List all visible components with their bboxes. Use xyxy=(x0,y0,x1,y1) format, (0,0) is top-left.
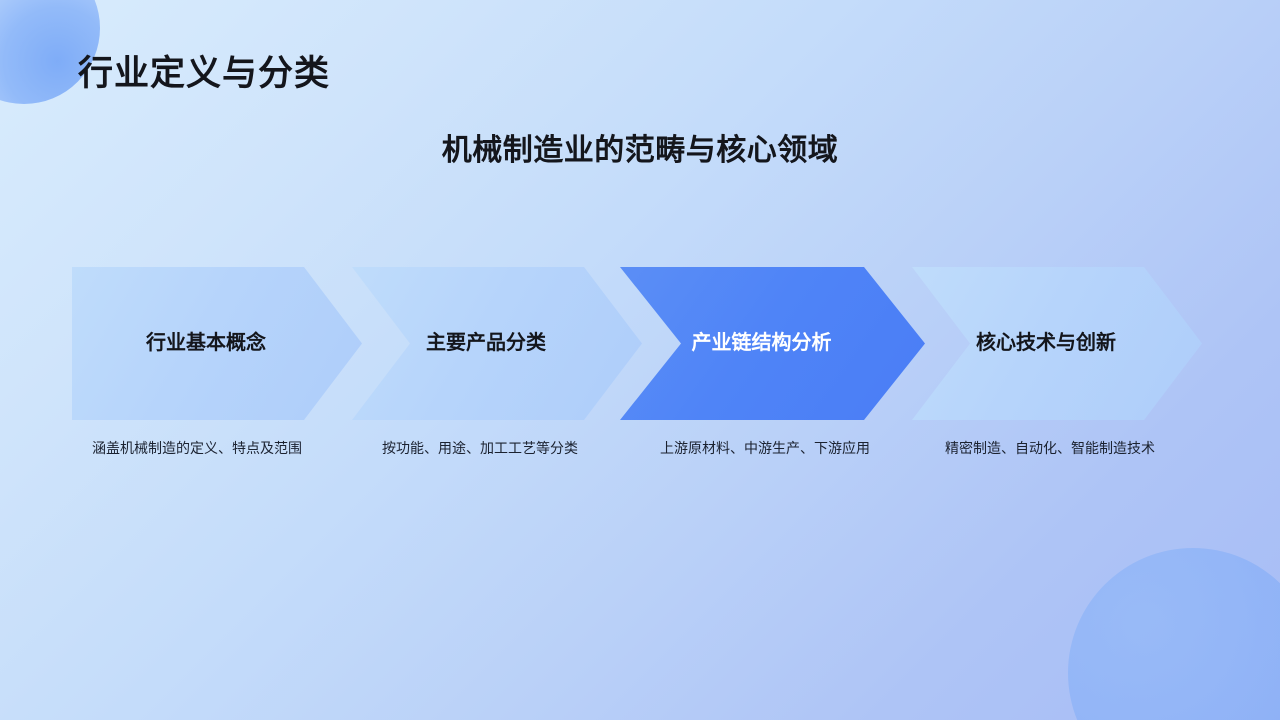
flow-step-2-label: 主要产品分类 xyxy=(392,267,580,420)
flow-step-3[interactable]: 产业链结构分析 xyxy=(620,267,925,420)
flow-step-3-label: 产业链结构分析 xyxy=(660,267,863,420)
flow-step-1-label: 行业基本概念 xyxy=(112,267,300,420)
flow-step-2-caption: 按功能、用途、加工工艺等分类 xyxy=(355,437,605,459)
page-subtitle: 机械制造业的范畴与核心领域 xyxy=(0,125,1280,169)
flow-step-2[interactable]: 主要产品分类 xyxy=(352,267,642,420)
flow-step-3-caption: 上游原材料、中游生产、下游应用 xyxy=(640,437,890,459)
flow-step-4-label: 核心技术与创新 xyxy=(952,267,1140,420)
page-title: 行业定义与分类 xyxy=(78,52,330,96)
flow-step-1-caption: 涵盖机械制造的定义、特点及范围 xyxy=(72,437,322,459)
slide-canvas: 行业定义与分类 机械制造业的范畴与核心领域 行业基本概念 主要产品分类 产业链结… xyxy=(0,0,1280,720)
flow-step-1[interactable]: 行业基本概念 xyxy=(72,267,362,420)
process-flow: 行业基本概念 主要产品分类 产业链结构分析 核心技术与创新 涵盖机械制造的定义、… xyxy=(0,267,1280,497)
decorative-circle-bottom-right xyxy=(1068,548,1280,720)
flow-step-4-caption: 精密制造、自动化、智能制造技术 xyxy=(925,437,1175,459)
flow-step-4[interactable]: 核心技术与创新 xyxy=(912,267,1202,420)
